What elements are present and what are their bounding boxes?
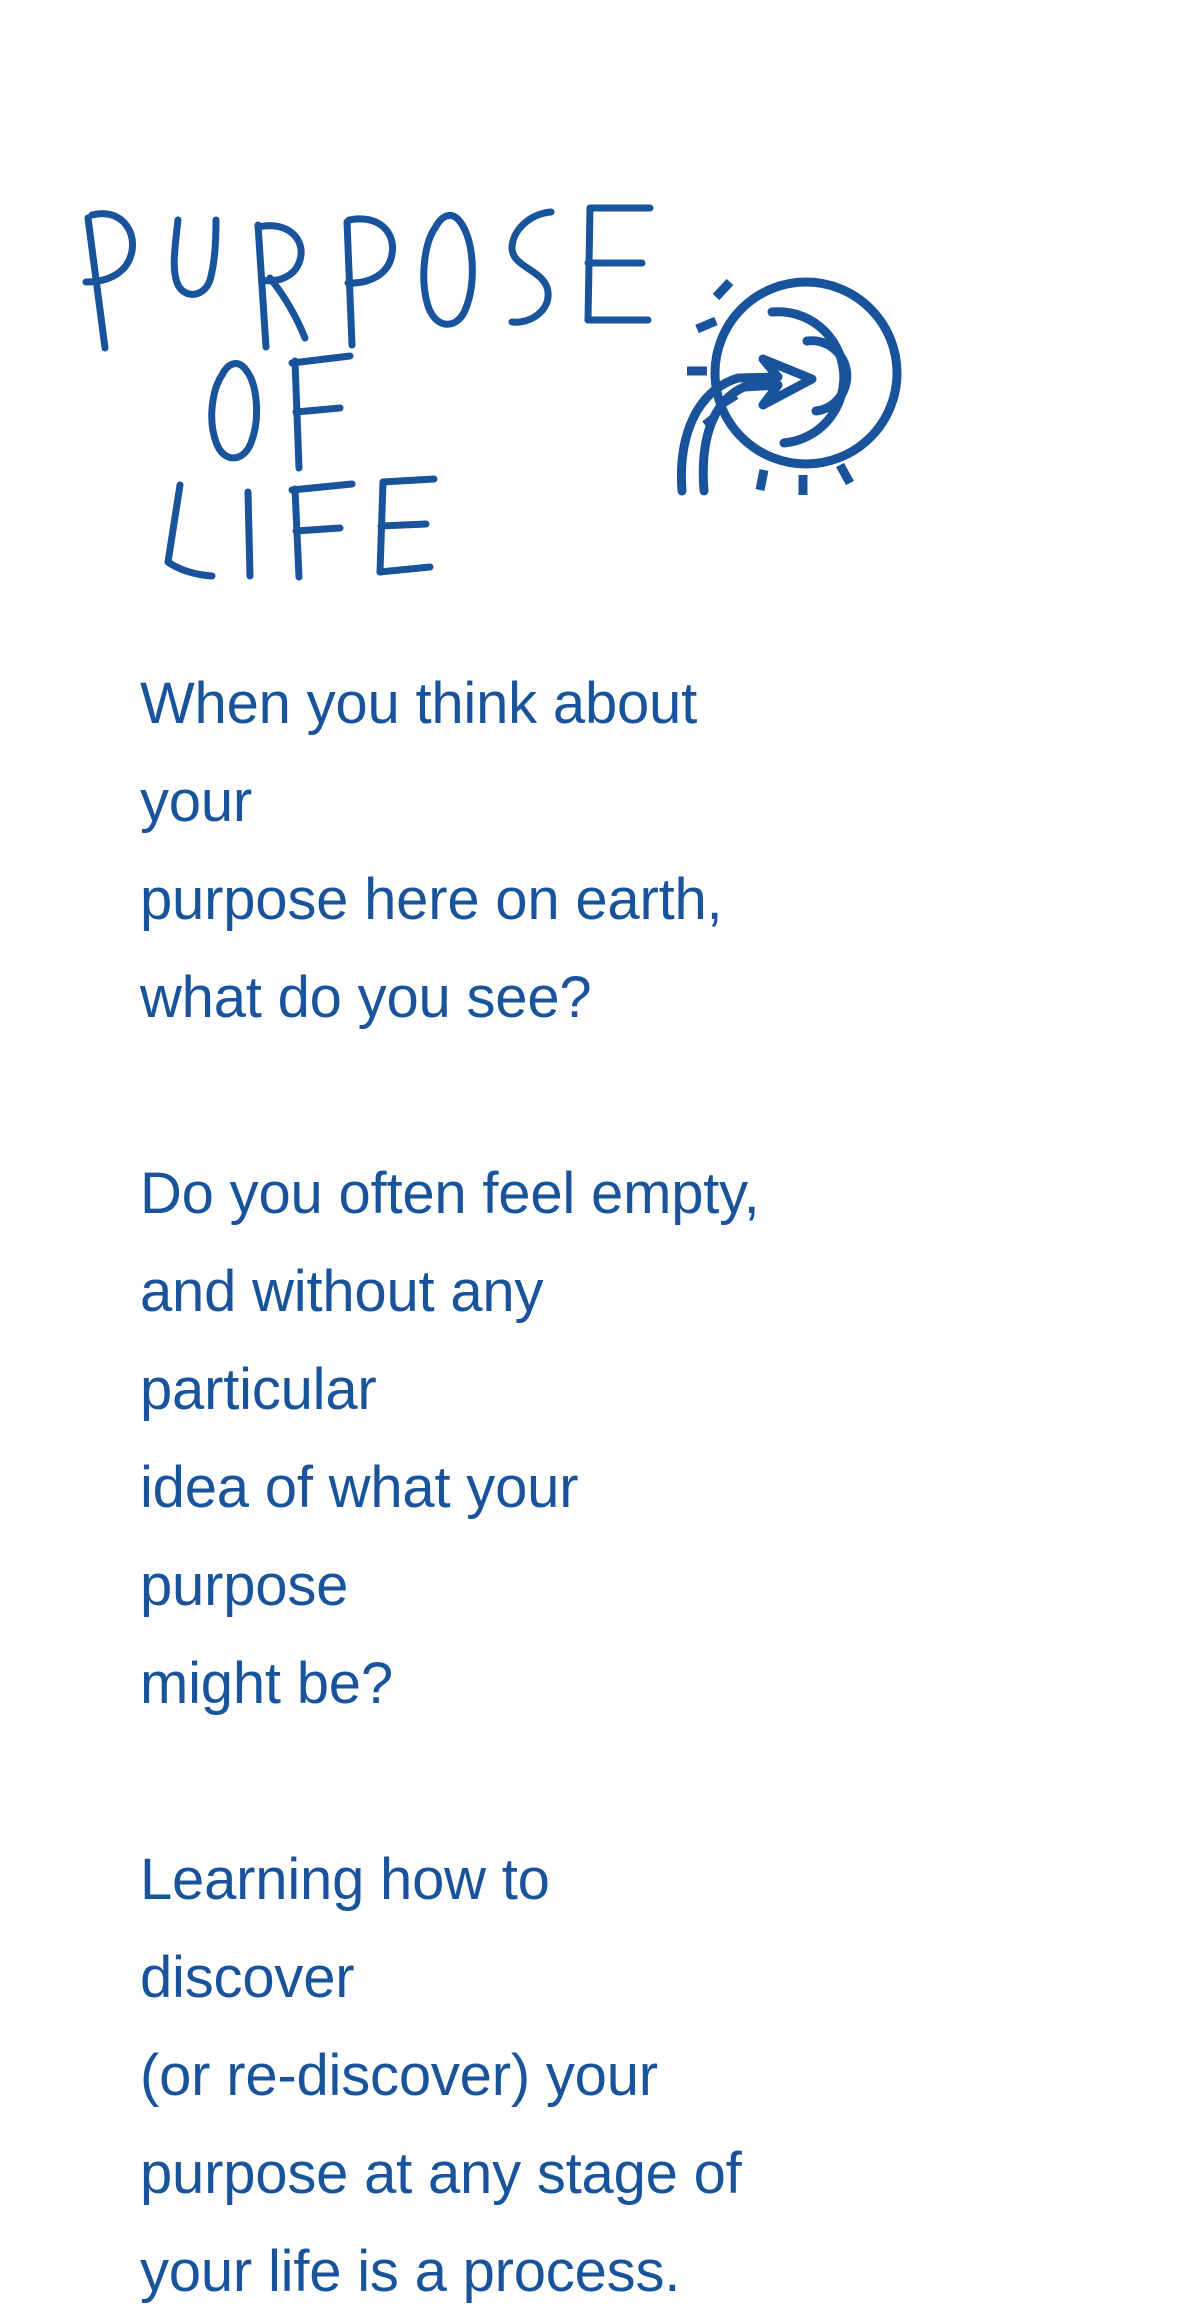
arrow-path [681, 359, 812, 491]
headline-word-purpose [86, 208, 650, 348]
paragraph-2: Do you often feel empty, and without any… [140, 1145, 780, 1733]
target-arrow-icon [660, 255, 900, 505]
body-copy: When you think about your purpose here o… [140, 655, 780, 2321]
headline-lettering [0, 120, 700, 590]
headline-word-life [168, 479, 434, 577]
paragraph-1: When you think about your purpose here o… [140, 655, 780, 1047]
paragraph-3: Learning how to discover (or re-discover… [140, 1831, 780, 2321]
quote-card: When you think about your purpose here o… [0, 0, 1200, 2133]
headline-word-of [212, 356, 350, 468]
